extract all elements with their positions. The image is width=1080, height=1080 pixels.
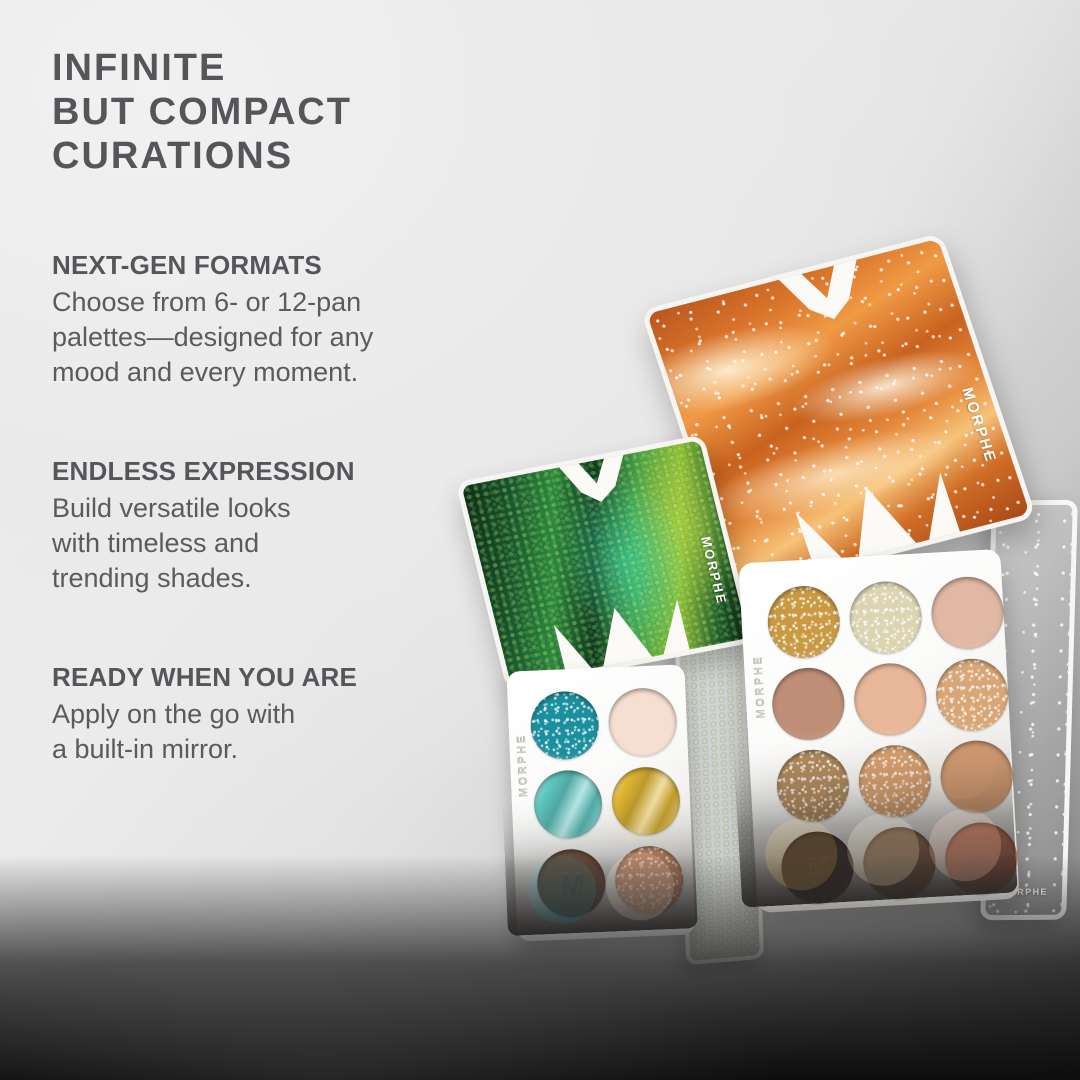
- base-wordmark: MORPHE: [516, 733, 531, 797]
- pan-teal-copper-duochrome: [533, 769, 604, 840]
- pan-rose-gold-sparkle: [934, 657, 1010, 733]
- floor-sheen: [0, 930, 1080, 1080]
- section-body: Build versatile looks with timeless and …: [52, 491, 482, 596]
- section-body: Apply on the go with a built-in mirror.: [52, 697, 482, 767]
- section-kicker: NEXT-GEN FORMATS: [52, 250, 522, 281]
- feature-section-ready-when-you-are: READY WHEN YOU ARE Apply on the go with …: [52, 662, 482, 767]
- section-kicker: READY WHEN YOU ARE: [52, 662, 482, 693]
- pan-soft-blush-nude: [930, 575, 1006, 651]
- product-marketing-image: INFINITE BUT COMPACT CURATIONS NEXT-GEN …: [0, 0, 1080, 1080]
- section-body: Choose from 6- or 12-pan palettes—design…: [52, 285, 522, 390]
- pan-peach-nude-matte: [852, 661, 928, 737]
- pan-antique-gold-glitter: [766, 584, 842, 660]
- feature-section-next-gen-formats: NEXT-GEN FORMATS Choose from 6- or 12-pa…: [52, 250, 522, 390]
- feature-section-endless-expression: ENDLESS EXPRESSION Build versatile looks…: [52, 456, 482, 596]
- page-title: INFINITE BUT COMPACT CURATIONS: [52, 46, 522, 178]
- copy-block: INFINITE BUT COMPACT CURATIONS: [52, 46, 522, 178]
- pan-cream-nude: [607, 687, 678, 758]
- section-kicker: ENDLESS EXPRESSION: [52, 456, 482, 487]
- pan-warm-rosewood-matte: [770, 666, 846, 742]
- base-wordmark: MORPHE: [753, 654, 769, 718]
- pan-copper-shimmer: [857, 743, 933, 819]
- pan-bronze-glitter: [775, 748, 851, 824]
- pan-gold-metallic: [611, 766, 682, 837]
- pan-champagne-shimmer: [848, 579, 924, 655]
- pan-teal-glitter: [529, 690, 600, 761]
- pan-warm-tan-matte: [939, 739, 1015, 815]
